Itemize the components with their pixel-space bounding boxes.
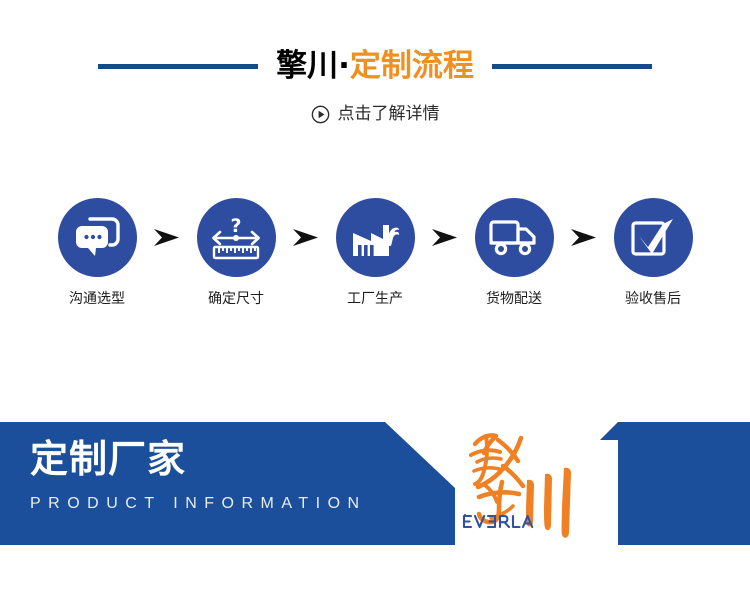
svg-text:?: ? bbox=[230, 215, 241, 237]
footer-banner: 定制厂家 PRODUCT INFORMATION bbox=[0, 422, 750, 545]
checkbox-check-icon bbox=[630, 216, 676, 260]
title-rule-left bbox=[98, 64, 258, 69]
page-title-brand: 擎川 bbox=[276, 48, 338, 84]
step-separator-2 bbox=[285, 198, 326, 277]
title-rule-right bbox=[492, 64, 652, 69]
step-separator-4 bbox=[563, 198, 604, 277]
arrow-right-icon bbox=[570, 228, 597, 247]
arrow-right-icon bbox=[153, 228, 180, 247]
ruler-measure-icon: ? bbox=[211, 215, 261, 261]
step-label: 确定尺寸 bbox=[208, 292, 264, 306]
process-steps: 沟通选型 ? bbox=[0, 198, 750, 328]
step-separator-1 bbox=[146, 198, 187, 277]
subtitle-row[interactable]: 点击了解详情 bbox=[0, 100, 750, 128]
factory-icon bbox=[350, 215, 400, 261]
page-title-dot: · bbox=[338, 48, 350, 84]
step-item-acceptance[interactable]: 验收售后 bbox=[604, 198, 702, 306]
step-label: 工厂生产 bbox=[347, 292, 403, 306]
step-label: 沟通选型 bbox=[69, 292, 125, 306]
page-title: 擎川·定制流程 bbox=[276, 51, 474, 82]
step-item-communication[interactable]: 沟通选型 bbox=[48, 198, 146, 306]
step-icon-circle[interactable] bbox=[58, 198, 137, 277]
subtitle-text: 点击了解详情 bbox=[338, 106, 440, 123]
footer-text-block: 定制厂家 PRODUCT INFORMATION bbox=[30, 440, 430, 512]
delivery-truck-icon bbox=[489, 218, 539, 258]
step-separator-3 bbox=[424, 198, 465, 277]
footer-subtitle: PRODUCT INFORMATION bbox=[30, 496, 430, 512]
step-item-dimensions[interactable]: ? 确定尺寸 bbox=[187, 198, 285, 306]
step-icon-circle[interactable]: ? bbox=[197, 198, 276, 277]
chat-bubbles-icon bbox=[74, 217, 120, 259]
page-title-rest: 定制流程 bbox=[350, 48, 474, 84]
step-icon-circle[interactable] bbox=[614, 198, 693, 277]
page-title-row: 擎川·定制流程 bbox=[0, 40, 750, 92]
footer-title: 定制厂家 bbox=[30, 440, 430, 478]
step-label: 货物配送 bbox=[486, 292, 542, 306]
step-item-delivery[interactable]: 货物配送 bbox=[465, 198, 563, 306]
step-icon-circle[interactable] bbox=[475, 198, 554, 277]
play-circle-icon[interactable] bbox=[311, 105, 330, 124]
step-icon-circle[interactable] bbox=[336, 198, 415, 277]
arrow-right-icon bbox=[431, 228, 458, 247]
step-label: 验收售后 bbox=[625, 292, 681, 306]
brand-logo bbox=[455, 422, 588, 545]
step-item-production[interactable]: 工厂生产 bbox=[326, 198, 424, 306]
header-section: 擎川·定制流程 点击了解详情 bbox=[0, 0, 750, 165]
footer-panel-right bbox=[588, 422, 750, 545]
arrow-right-icon bbox=[292, 228, 319, 247]
